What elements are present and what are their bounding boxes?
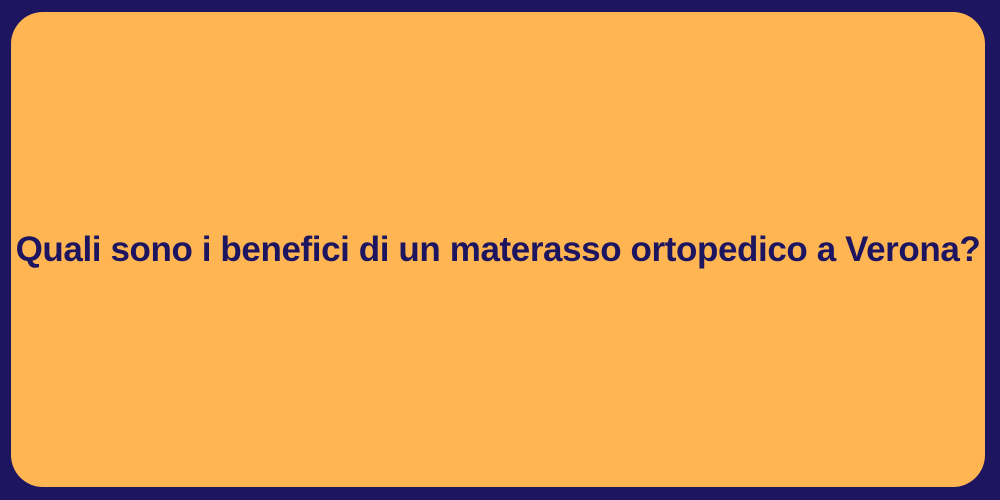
page-title: Quali sono i benefici di un materasso or…: [16, 228, 981, 272]
card-outer-frame: Quali sono i benefici di un materasso or…: [0, 0, 1000, 500]
card-panel: Quali sono i benefici di un materasso or…: [11, 12, 985, 487]
